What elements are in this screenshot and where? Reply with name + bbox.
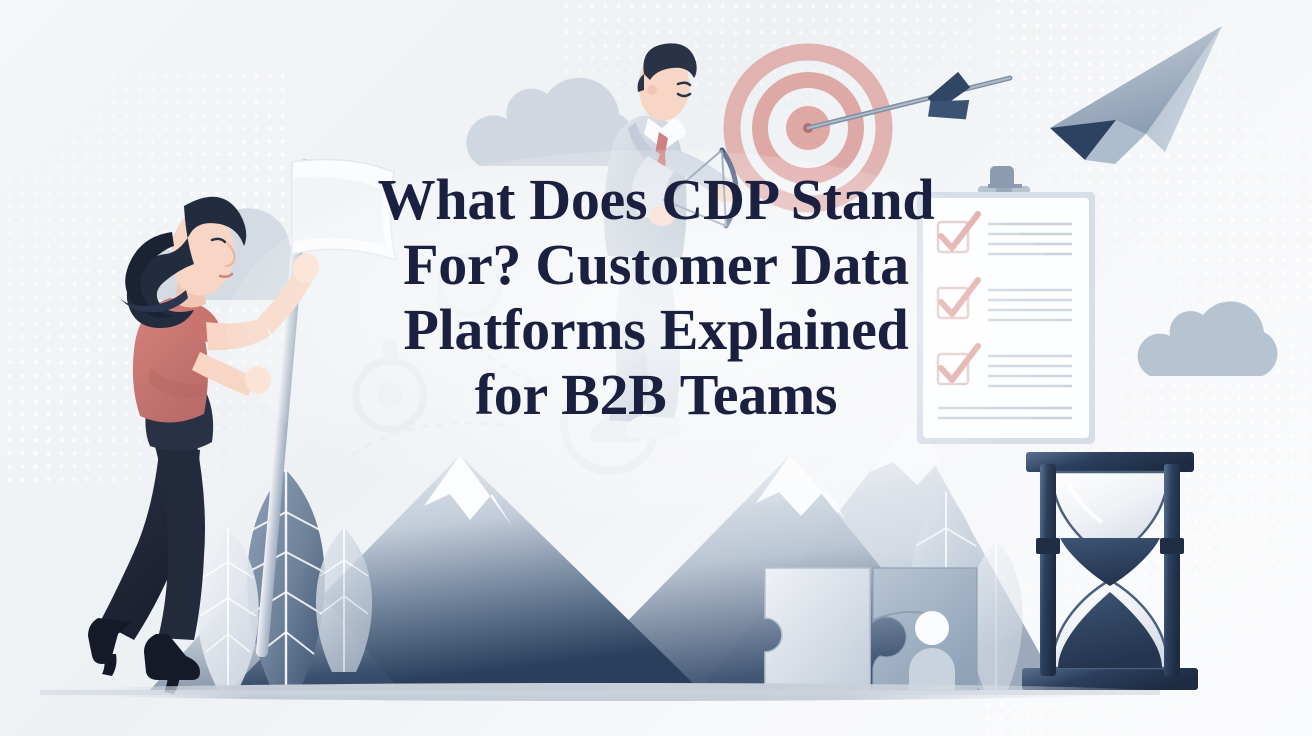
hourglass: [1022, 452, 1198, 690]
ground-line: [40, 683, 1160, 701]
cloud-right: [1138, 301, 1278, 376]
title-bloom: [226, 150, 1086, 510]
leaves-left: [197, 470, 372, 690]
illustration-canvas: [0, 0, 1312, 736]
paper-plane: [1050, 26, 1222, 164]
hero-banner: What Does CDP Stand For? Customer Data P…: [0, 0, 1312, 736]
